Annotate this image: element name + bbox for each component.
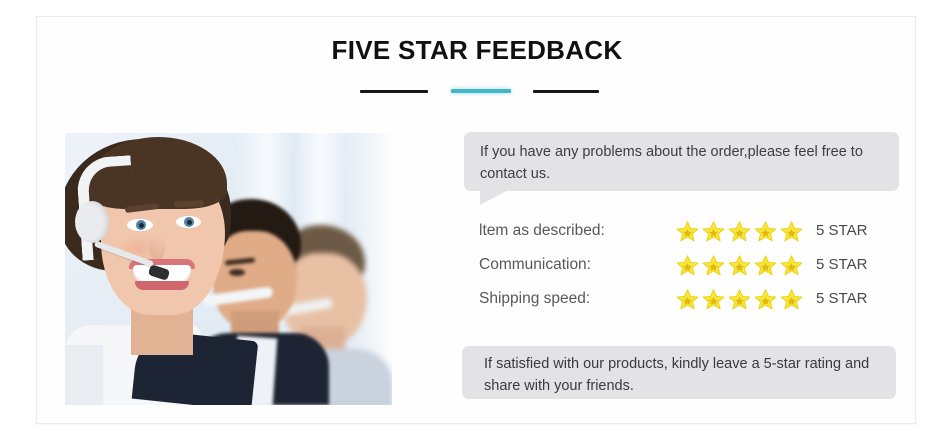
rating-value: 5 STAR	[816, 290, 867, 307]
star-icon	[701, 253, 726, 278]
page-title: FIVE STAR FEEDBACK	[37, 35, 917, 66]
rating-stars	[675, 219, 807, 244]
satisfaction-note-text: If satisfied with our products, kindly l…	[484, 353, 884, 397]
rating-stars	[675, 287, 807, 312]
star-icon	[779, 219, 804, 244]
star-icon	[779, 287, 804, 312]
rating-stars	[675, 253, 807, 278]
star-icon	[701, 287, 726, 312]
contact-message-bubble: If you have any problems about the order…	[464, 132, 899, 191]
support-team-photo	[65, 133, 392, 405]
satisfaction-note: If satisfied with our products, kindly l…	[462, 346, 896, 399]
rating-row: ltem as described: 5 STAR	[479, 217, 899, 251]
rating-row: Shipping speed: 5 STAR	[479, 285, 899, 319]
rating-label: Communication:	[479, 256, 591, 274]
contact-message-text: If you have any problems about the order…	[480, 141, 880, 185]
star-icon	[727, 287, 752, 312]
star-icon	[675, 287, 700, 312]
rating-label: Shipping speed:	[479, 290, 590, 308]
bubble-tail	[480, 189, 510, 205]
agent-foreground	[65, 139, 267, 405]
divider-dash-right	[533, 90, 599, 93]
headset-earcup-icon	[75, 201, 109, 243]
feedback-card: FIVE STAR FEEDBACK	[36, 16, 916, 424]
divider-dash-left	[360, 90, 428, 93]
star-icon	[701, 219, 726, 244]
star-icon	[753, 287, 778, 312]
star-icon	[753, 219, 778, 244]
star-icon	[727, 253, 752, 278]
ratings-list: ltem as described: 5 STAR Communication:	[479, 217, 899, 319]
rating-value: 5 STAR	[816, 222, 867, 239]
rating-label: ltem as described:	[479, 222, 605, 240]
star-icon	[779, 253, 804, 278]
star-icon	[675, 219, 700, 244]
rating-value: 5 STAR	[816, 256, 867, 273]
rating-row: Communication: 5 STAR	[479, 251, 899, 285]
divider-dash-accent	[451, 89, 511, 93]
star-icon	[753, 253, 778, 278]
page-root: FIVE STAR FEEDBACK	[0, 0, 952, 447]
title-divider	[37, 90, 917, 100]
star-icon	[727, 219, 752, 244]
star-icon	[675, 253, 700, 278]
